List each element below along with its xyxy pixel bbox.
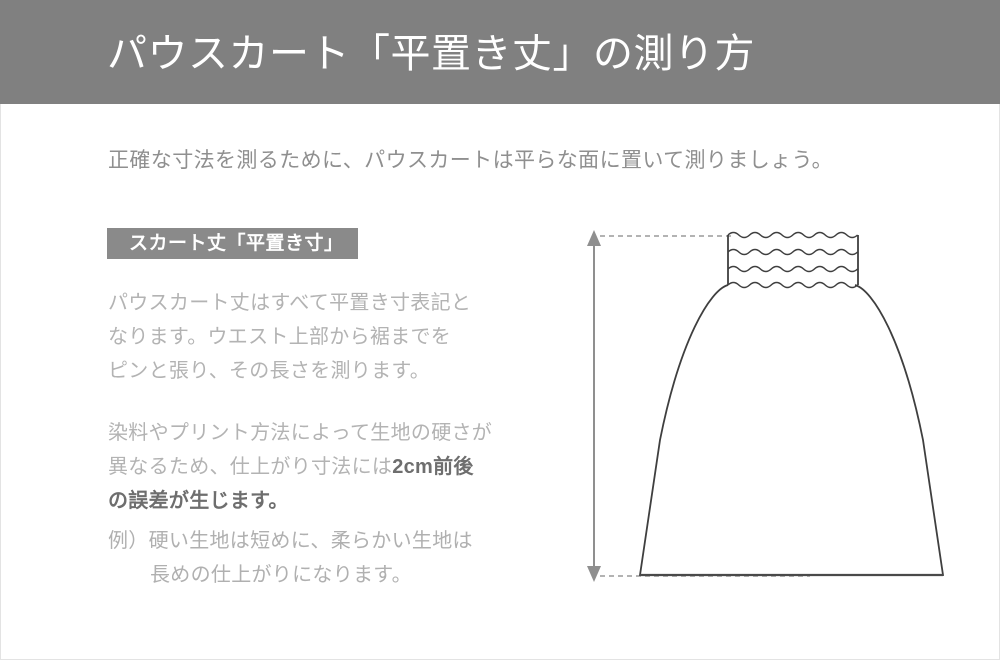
paragraph-line-indented: 長めの仕上がりになります。: [108, 558, 412, 592]
page-title: パウスカート「平置き丈」の測り方: [107, 32, 755, 76]
paragraph-tolerance-note: 染料やプリント方法によって生地の硬さが 異なるため、仕上がり寸法には2cm前後 …: [108, 416, 538, 518]
paragraph-measurement-method: パウスカート丈はすべて平置き寸表記と なります。ウエスト上部から裾までを ピンと…: [108, 286, 538, 388]
measure-arrow-down-head: [587, 566, 601, 582]
paragraph-line-normal: 異なるため、仕上がり寸法には: [108, 456, 392, 478]
paragraph-line: 例）硬い生地は短めに、柔らかい生地は: [108, 524, 538, 558]
page-root: パウスカート「平置き丈」の測り方 正確な寸法を測るために、パウスカートは平らな面…: [0, 0, 1000, 660]
paragraph-line: なります。ウエスト上部から裾までを: [108, 320, 538, 354]
section-badge: スカート丈「平置き寸」: [107, 228, 358, 259]
tolerance-emphasis: の誤差が生じます。: [108, 484, 538, 518]
paragraph-line: 長めの仕上がりになります。: [108, 558, 538, 592]
paragraph-line: 異なるため、仕上がり寸法には2cm前後: [108, 450, 538, 484]
paragraph-line: ピンと張り、その長さを測ります。: [108, 354, 538, 388]
header-band: パウスカート「平置き丈」の測り方: [0, 0, 1000, 104]
measure-arrow-up-head: [587, 230, 601, 246]
shirred-waistband-texture: [728, 233, 858, 288]
tolerance-value: 2cm前後: [392, 456, 474, 478]
paragraph-line: パウスカート丈はすべて平置き寸表記と: [108, 286, 538, 320]
intro-text: 正確な寸法を測るために、パウスカートは平らな面に置いて測りましょう。: [108, 146, 833, 176]
paragraph-line: 染料やプリント方法によって生地の硬さが: [108, 416, 538, 450]
skirt-body-outline: [640, 285, 943, 575]
skirt-diagram: [560, 210, 980, 610]
paragraph-example: 例）硬い生地は短めに、柔らかい生地は 長めの仕上がりになります。: [108, 524, 538, 592]
